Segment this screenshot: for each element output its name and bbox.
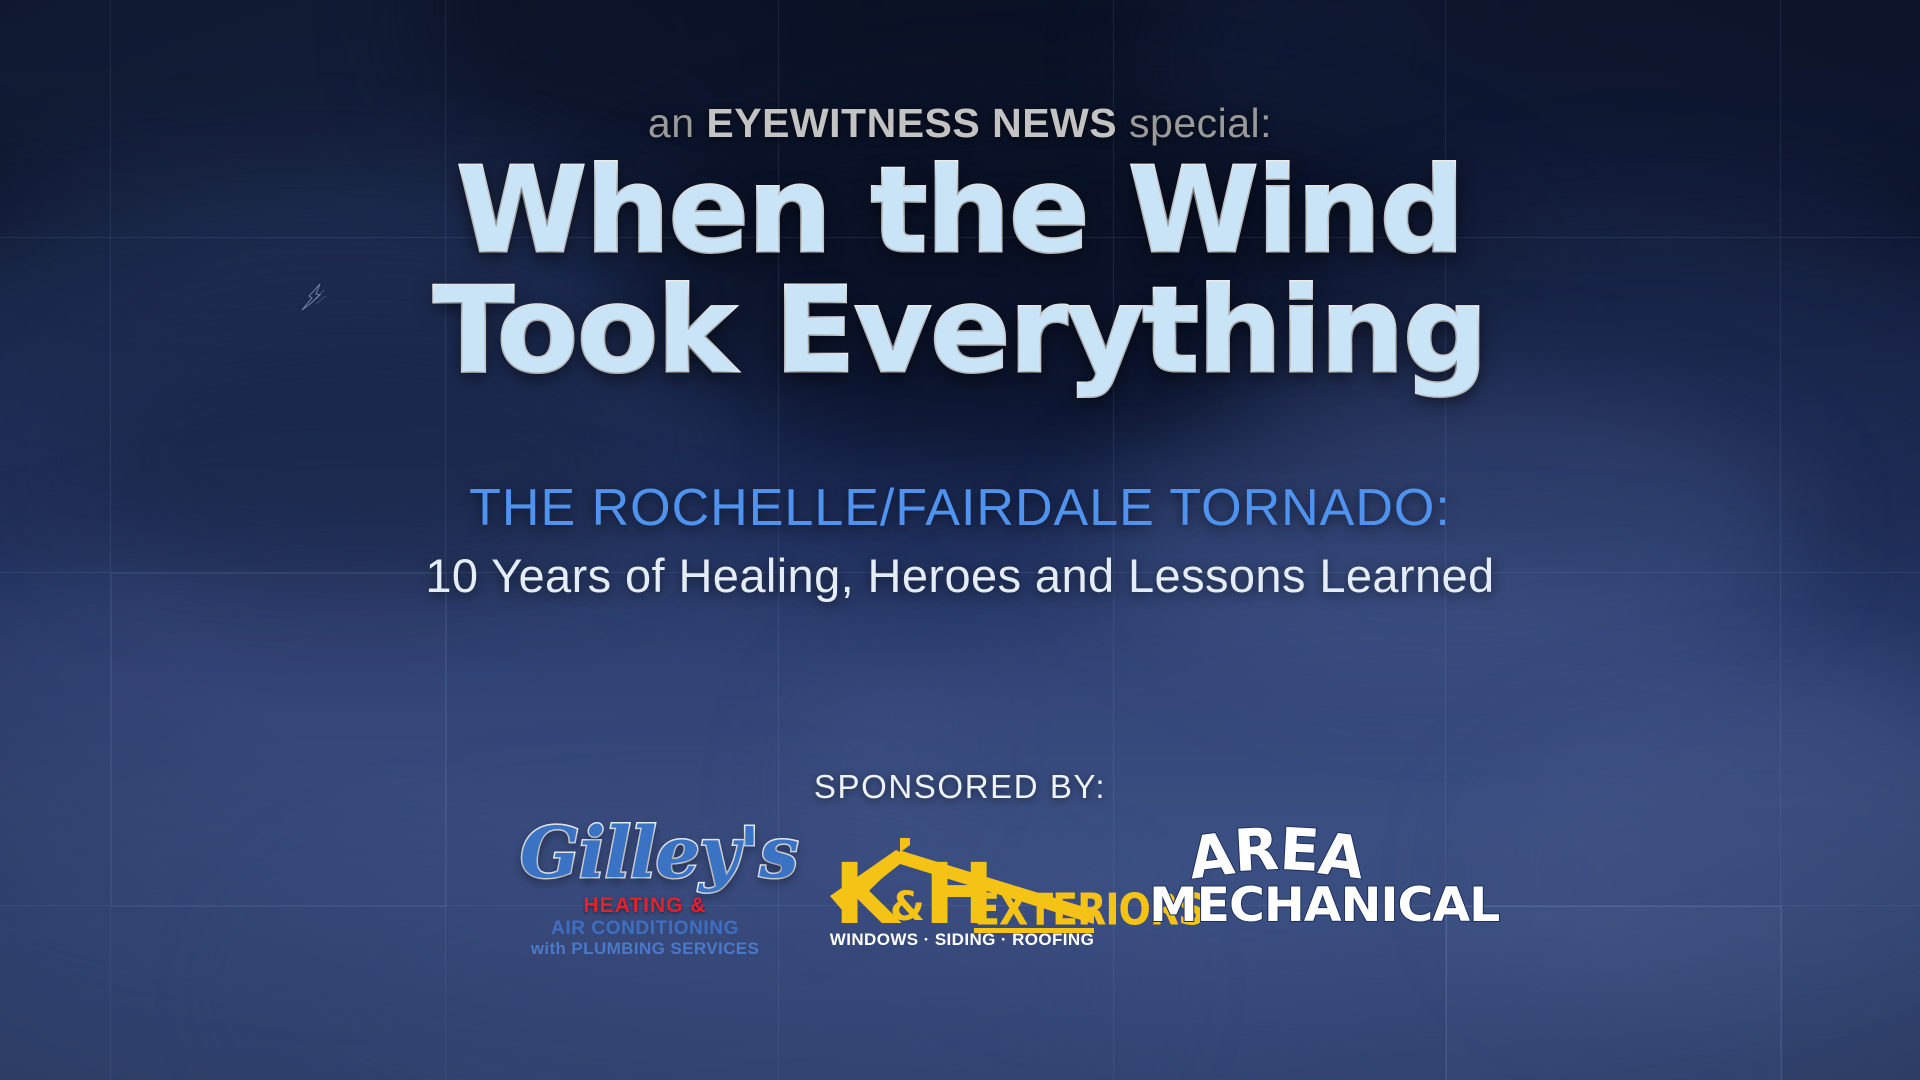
sponsor-logo-area-mechanical: AREA MECHANICAL	[1154, 818, 1400, 946]
subtitle-secondary: 10 Years of Healing, Heroes and Lessons …	[0, 548, 1920, 603]
kh-services-text: WINDOWS · SIDING · ROOFING	[828, 930, 1096, 950]
broadcast-title-card: an EYEWITNESS NEWS special: When the Win…	[0, 0, 1920, 1080]
kicker-brand: EYEWITNESS NEWS	[706, 100, 1117, 146]
sponsor-logo-kh-exteriors: K & H EXTERIORS WINDOWS · SIDING · ROOFI…	[828, 818, 1096, 950]
page-title: When the Wind Took Everything	[0, 150, 1920, 391]
subtitle-primary: THE ROCHELLE/FAIRDALE TORNADO:	[0, 478, 1920, 538]
kicker-suffix: special:	[1117, 100, 1272, 146]
title-line-1: When the Wind	[0, 150, 1920, 270]
gilleys-plumbing-text: with PLUMBING SERVICES	[520, 939, 770, 959]
gilleys-air-conditioning-text: AIR CONDITIONING	[520, 918, 770, 940]
kicker-prefix: an	[648, 100, 707, 146]
sponsor-logo-gilleys: Gilley's HEATING & AIR CONDITIONING with…	[520, 818, 770, 948]
title-line-2: Took Everything	[0, 270, 1920, 390]
kh-ampersand: &	[890, 884, 925, 930]
mechanical-wordmark: MECHANICAL	[1149, 882, 1405, 929]
program-kicker: an EYEWITNESS NEWS special:	[0, 100, 1920, 147]
gilleys-wordmark: Gilley's	[520, 818, 770, 888]
sponsored-by-label: SPONSORED BY:	[0, 768, 1920, 806]
gilleys-heating-text: HEATING &	[520, 894, 770, 918]
sponsor-logo-row: Gilley's HEATING & AIR CONDITIONING with…	[0, 818, 1920, 958]
area-wordmark: AREA	[1154, 820, 1400, 878]
